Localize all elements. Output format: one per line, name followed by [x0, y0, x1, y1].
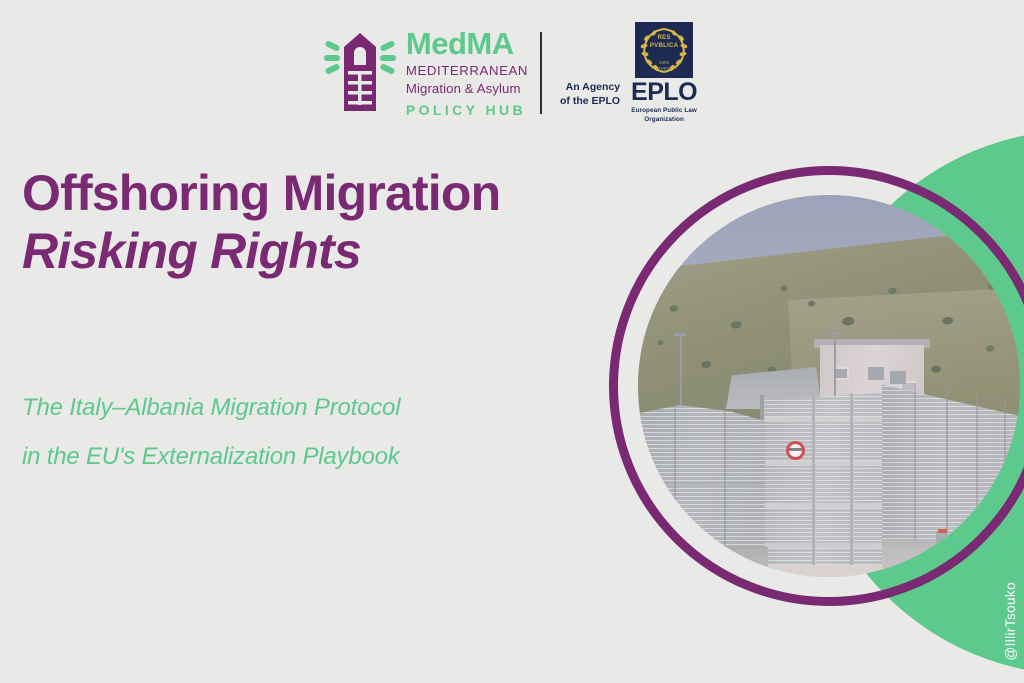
page-title: Offshoring Migration Risking Rights — [22, 165, 622, 281]
photo-no-entry-sign-bar — [789, 448, 802, 451]
medma-tower-icon — [324, 31, 396, 115]
medma-subtitle-line-1: MEDITERRANEAN — [406, 62, 528, 80]
medma-name: MedMA — [406, 28, 528, 61]
photo-red-marker — [938, 529, 947, 533]
photo-fence-left-rail — [638, 483, 764, 485]
photo-light-pole-2-head — [828, 332, 841, 335]
subtitle-line-1: The Italy–Albania Migration Protocol — [22, 383, 582, 432]
medma-wordmark: MedMA MEDITERRANEAN Migration & Asylum P… — [406, 28, 528, 119]
photo-fence-left-seam-2 — [724, 399, 726, 571]
photo-credit: @IllirTsouko — [1003, 582, 1018, 661]
photo-gate-rail-1 — [764, 417, 882, 422]
medma-logo: MedMA MEDITERRANEAN Migration & Asylum P… — [324, 28, 528, 119]
hero-graphic: @IllirTsouko — [594, 0, 1024, 683]
title-line-1: Offshoring Migration — [22, 165, 622, 221]
subtitle-line-2: in the EU's Externalization Playbook — [22, 432, 582, 481]
title-line-2: Risking Rights — [22, 221, 622, 281]
medma-subtitle-line-2: Migration & Asylum — [406, 80, 528, 98]
photo-fence-left-seam-1 — [674, 403, 676, 571]
logo-divider — [540, 32, 542, 114]
photo-light-pole-2 — [834, 335, 836, 397]
photo-gate-rail-4 — [764, 543, 882, 548]
photo-light-pole-1 — [680, 335, 682, 405]
photo-control-box — [936, 531, 947, 553]
photo-concrete-base-left — [638, 547, 768, 577]
photo-building-window-1 — [834, 367, 849, 380]
photo-ac-unit-2 — [890, 371, 906, 384]
photo-gate-mullion-1 — [812, 395, 815, 565]
page-subtitle: The Italy–Albania Migration Protocol in … — [22, 383, 582, 481]
photo-ac-unit-1 — [868, 367, 884, 380]
medma-policy-hub: POLICY HUB — [406, 102, 528, 119]
hero-photo — [638, 195, 1020, 577]
photo-fence-left — [638, 405, 765, 565]
photo-gate-rail-3 — [764, 503, 882, 508]
photo-gate-rail-2 — [764, 461, 882, 466]
title-slide: MedMA MEDITERRANEAN Migration & Asylum P… — [0, 0, 1024, 683]
photo-light-pole-1-head — [674, 333, 686, 336]
photo-fence-post-1 — [914, 383, 916, 567]
photo-gate-mullion-2 — [850, 393, 853, 565]
